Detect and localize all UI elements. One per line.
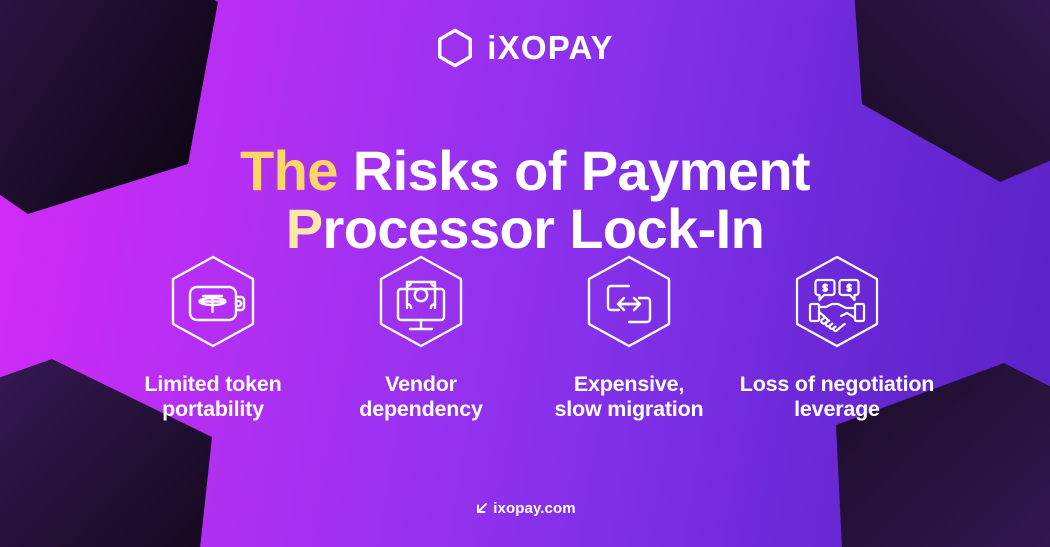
footer-url: ixopay.com	[493, 500, 575, 517]
handshake-dollar-icon	[785, 252, 889, 356]
risk-card: Limited token portability	[113, 252, 313, 423]
title-highlight-the: The	[240, 139, 338, 202]
risk-card: Vendor dependency	[321, 252, 521, 423]
risk-card: Expensive, slow migration	[529, 252, 729, 423]
risk-card: Loss of negotiation leverage	[737, 252, 937, 423]
footer: ixopay.com	[0, 500, 1050, 517]
marketing-graphic: iXOPAY The Risks of Payment Processor Lo…	[0, 0, 1050, 547]
title-line-1-rest: Risks of Payment	[338, 139, 810, 202]
wallet-token-icon	[161, 252, 265, 356]
title-line-2-rest: rocessor Lock-In	[323, 197, 765, 260]
title-line-1: The Risks of Payment	[80, 142, 970, 200]
hexagon-outline-icon	[436, 28, 474, 68]
risk-card-label: Loss of negotiation leverage	[740, 372, 934, 423]
migration-arrows-icon	[577, 252, 681, 356]
monitor-banknote-icon	[369, 252, 473, 356]
brand-logo: iXOPAY	[0, 28, 1050, 68]
risk-card-label: Expensive, slow migration	[555, 372, 704, 423]
arrow-down-left-icon	[474, 501, 489, 516]
risk-card-label: Limited token portability	[144, 372, 281, 423]
title-highlight-p: P	[286, 197, 323, 260]
risk-card-list: Limited token portability Vendor depende…	[0, 252, 1050, 423]
brand-wordmark: iXOPAY	[487, 29, 613, 67]
title-line-2: Processor Lock-In	[80, 200, 970, 258]
risk-card-label: Vendor dependency	[359, 372, 482, 423]
page-title: The Risks of Payment Processor Lock-In	[0, 142, 1050, 258]
